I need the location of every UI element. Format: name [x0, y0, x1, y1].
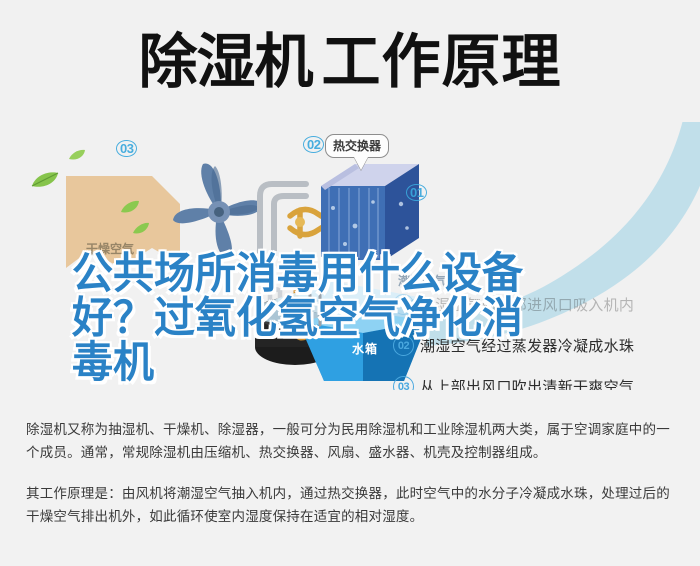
leaf-icon: [120, 200, 140, 220]
body-copy: 除湿机又称为抽湿机、干燥机、除湿器，一般可分为民用除湿机和工业除湿机两大类，属于…: [26, 418, 678, 528]
leaf-icon: [68, 149, 86, 167]
paragraph-1: 除湿机又称为抽湿机、干燥机、除湿器，一般可分为民用除湿机和工业除湿机两大类，属于…: [26, 418, 678, 464]
overlay-headline-line-3: 毒机: [72, 341, 632, 385]
leaf-icon: [132, 222, 150, 241]
page-title: 除湿机工作原理: [138, 32, 561, 91]
paragraph-2: 其工作原理是：由风机将潮湿空气抽入机内，通过热交换器，此时空气中的水分子冷凝成水…: [26, 482, 678, 528]
page-title-part-1: 除湿机: [138, 27, 312, 96]
page-title-part-2: 工作原理: [322, 27, 562, 96]
leaf-icon: [30, 170, 60, 195]
heat-exchanger-callout: 热交换器: [325, 134, 389, 158]
page-root: 除湿机工作原理 干燥空气: [0, 0, 700, 566]
art-marker-02: 02: [303, 136, 324, 153]
title-band: 除湿机工作原理: [0, 0, 700, 122]
art-marker-01: 01: [406, 184, 427, 201]
overlay-headline: 公共场所消毒用什么设备 好？过氧化氢空气净化消 毒机: [72, 252, 632, 385]
art-marker-03: 03: [116, 140, 137, 157]
overlay-headline-line-1: 公共场所消毒用什么设备: [72, 252, 632, 296]
overlay-headline-line-2: 好？过氧化氢空气净化消: [72, 296, 632, 340]
